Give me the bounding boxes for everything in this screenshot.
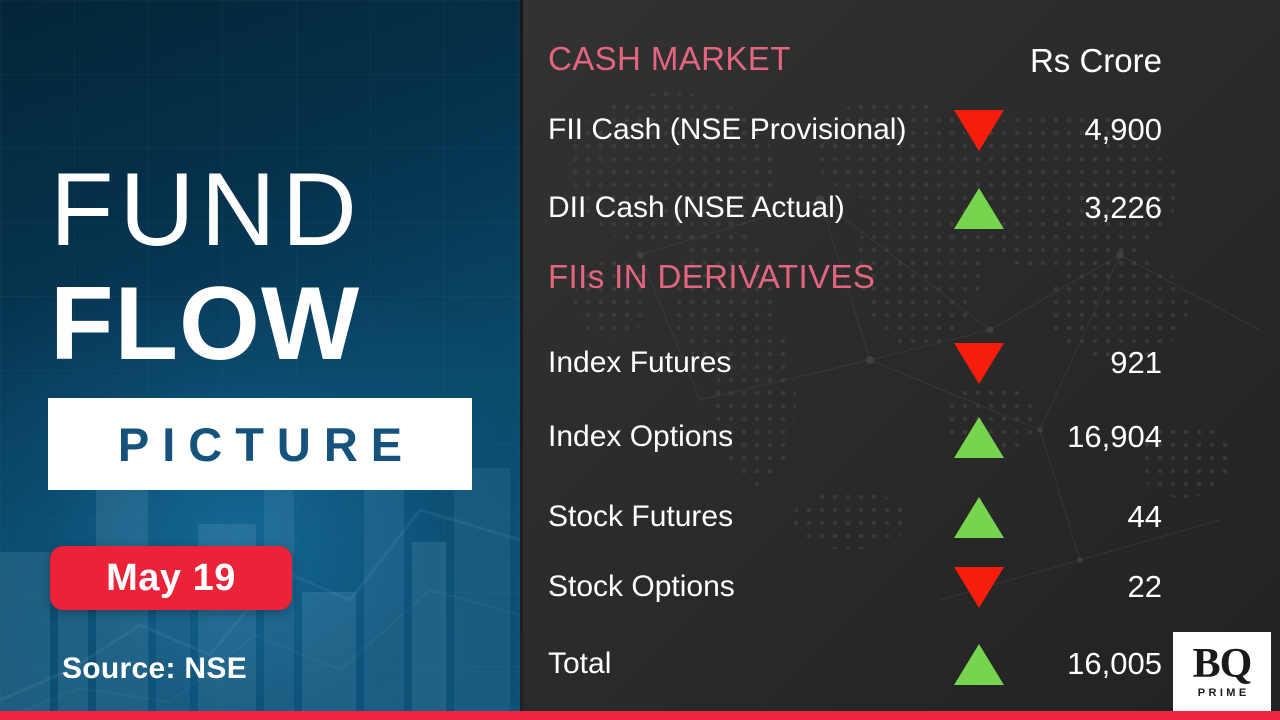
title-fund: FUND <box>50 158 363 262</box>
row-label: DII Cash (NSE Actual) <box>548 191 845 225</box>
row-label: Total <box>548 647 611 681</box>
data-panel: CASH MARKET Rs Crore FIIs IN DERIVATIVES… <box>520 0 1280 720</box>
triangle-up-icon <box>954 188 1004 229</box>
triangle-down-icon <box>954 567 1004 608</box>
infographic-canvas: FUND FLOW PICTURE May 19 Source: NSE <box>0 0 1280 720</box>
bq-logo-mark: BQ <box>1193 645 1252 684</box>
row-value: 3,226 <box>1020 190 1162 226</box>
row-label: Stock Options <box>548 570 735 604</box>
row-value: 4,900 <box>1020 112 1162 148</box>
table-row: Index Futures 921 <box>520 335 1280 391</box>
panel-divider <box>520 0 523 720</box>
row-value: 16,904 <box>1020 419 1162 455</box>
branding-panel: FUND FLOW PICTURE May 19 Source: NSE <box>0 0 520 720</box>
bottom-accent-bar <box>0 711 1280 720</box>
table-row: Stock Options 22 <box>520 559 1280 615</box>
row-label: Stock Futures <box>548 500 733 534</box>
row-value: 16,005 <box>1020 646 1162 682</box>
row-value: 921 <box>1020 345 1162 381</box>
title-picture-box: PICTURE <box>48 398 472 490</box>
table-row: Index Options 16,904 <box>520 409 1280 465</box>
row-label: Index Futures <box>548 346 731 380</box>
table-row: DII Cash (NSE Actual) 3,226 <box>520 180 1280 236</box>
triangle-down-icon <box>954 110 1004 151</box>
title-picture: PICTURE <box>105 421 415 468</box>
table-row: Stock Futures 44 <box>520 489 1280 545</box>
date-badge: May 19 <box>50 546 292 610</box>
data-rows: FII Cash (NSE Provisional) 4,900 DII Cas… <box>520 0 1280 720</box>
triangle-up-icon <box>954 417 1004 458</box>
row-value: 22 <box>1020 569 1162 605</box>
triangle-up-icon <box>954 497 1004 538</box>
table-row: FII Cash (NSE Provisional) 4,900 <box>520 102 1280 158</box>
table-row-total: Total 16,005 <box>520 636 1280 692</box>
row-label: FII Cash (NSE Provisional) <box>548 113 906 147</box>
row-value: 44 <box>1020 499 1162 535</box>
triangle-down-icon <box>954 343 1004 384</box>
bq-prime-logo: BQ PRIME <box>1173 632 1271 712</box>
triangle-up-icon <box>954 644 1004 685</box>
source-label: Source: NSE <box>62 652 247 686</box>
bq-logo-sub: PRIME <box>1194 687 1249 699</box>
row-label: Index Options <box>548 420 733 454</box>
title-flow: FLOW <box>50 272 360 376</box>
date-badge-label: May 19 <box>106 557 236 600</box>
